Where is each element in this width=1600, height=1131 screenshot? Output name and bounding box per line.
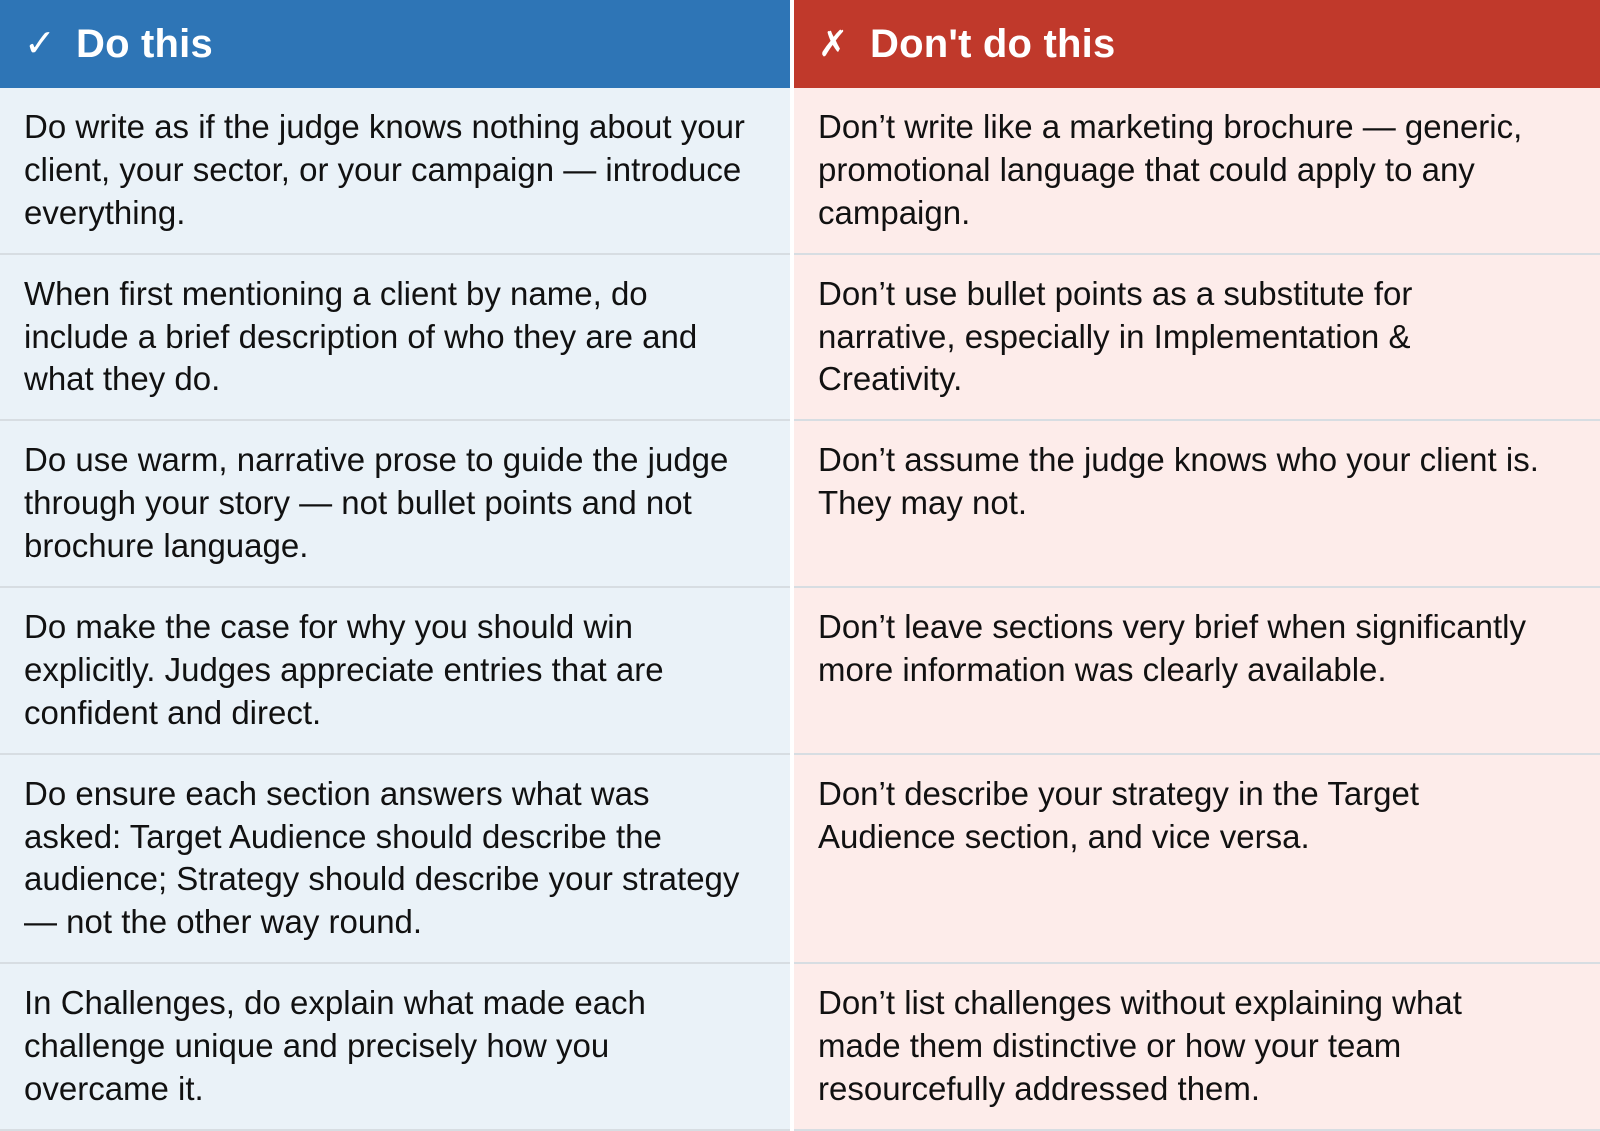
do-cell-text: Do write as if the judge knows nothing a… — [24, 106, 746, 235]
do-cell: Do use warm, narrative prose to guide th… — [0, 420, 790, 587]
table-row: Do use warm, narrative prose to guide th… — [0, 420, 1600, 587]
do-cell-text: When first mentioning a client by name, … — [24, 273, 746, 402]
table-row: Do ensure each section answers what was … — [0, 754, 1600, 964]
do-cell-text: In Challenges, do explain what made each… — [24, 982, 746, 1111]
dont-cell-text: Don’t use bullet points as a substitute … — [818, 273, 1540, 402]
dont-cell-text: Don’t write like a marketing brochure — … — [818, 106, 1540, 235]
column-header-do-label: Do this — [76, 24, 213, 64]
dont-cell: Don’t assume the judge knows who your cl… — [794, 420, 1600, 587]
table-header: ✓ Do this ✗ Don't do this — [0, 0, 1600, 88]
do-cell-text: Do make the case for why you should win … — [24, 606, 746, 735]
do-cell-text: Do ensure each section answers what was … — [24, 773, 746, 945]
table-row: When first mentioning a client by name, … — [0, 254, 1600, 421]
x-icon: ✗ — [818, 26, 848, 62]
dont-cell: Don’t describe your strategy in the Targ… — [794, 754, 1600, 964]
header-row: ✓ Do this ✗ Don't do this — [0, 0, 1600, 88]
do-dont-comparison-table: ✓ Do this ✗ Don't do this Do write as if… — [0, 0, 1600, 1131]
table-row: Do make the case for why you should win … — [0, 587, 1600, 754]
column-header-dont-label: Don't do this — [870, 24, 1115, 64]
column-header-dont: ✗ Don't do this — [794, 0, 1600, 88]
do-cell-text: Do use warm, narrative prose to guide th… — [24, 439, 746, 568]
dont-cell-text: Don’t assume the judge knows who your cl… — [818, 439, 1540, 525]
dont-cell: Don’t use bullet points as a substitute … — [794, 254, 1600, 421]
do-cell: In Challenges, do explain what made each… — [0, 963, 790, 1130]
table-row: Do write as if the judge knows nothing a… — [0, 88, 1600, 254]
do-cell: Do ensure each section answers what was … — [0, 754, 790, 964]
do-cell: When first mentioning a client by name, … — [0, 254, 790, 421]
dont-cell-text: Don’t leave sections very brief when sig… — [818, 606, 1540, 692]
check-icon: ✓ — [24, 25, 54, 63]
table-body: Do write as if the judge knows nothing a… — [0, 88, 1600, 1130]
dont-cell-text: Don’t describe your strategy in the Targ… — [818, 773, 1540, 859]
dont-cell: Don’t list challenges without explaining… — [794, 963, 1600, 1130]
dont-cell-text: Don’t list challenges without explaining… — [818, 982, 1540, 1111]
table-row: In Challenges, do explain what made each… — [0, 963, 1600, 1130]
dont-cell: Don’t write like a marketing brochure — … — [794, 88, 1600, 254]
do-cell: Do write as if the judge knows nothing a… — [0, 88, 790, 254]
do-cell: Do make the case for why you should win … — [0, 587, 790, 754]
dont-cell: Don’t leave sections very brief when sig… — [794, 587, 1600, 754]
column-header-do: ✓ Do this — [0, 0, 790, 88]
